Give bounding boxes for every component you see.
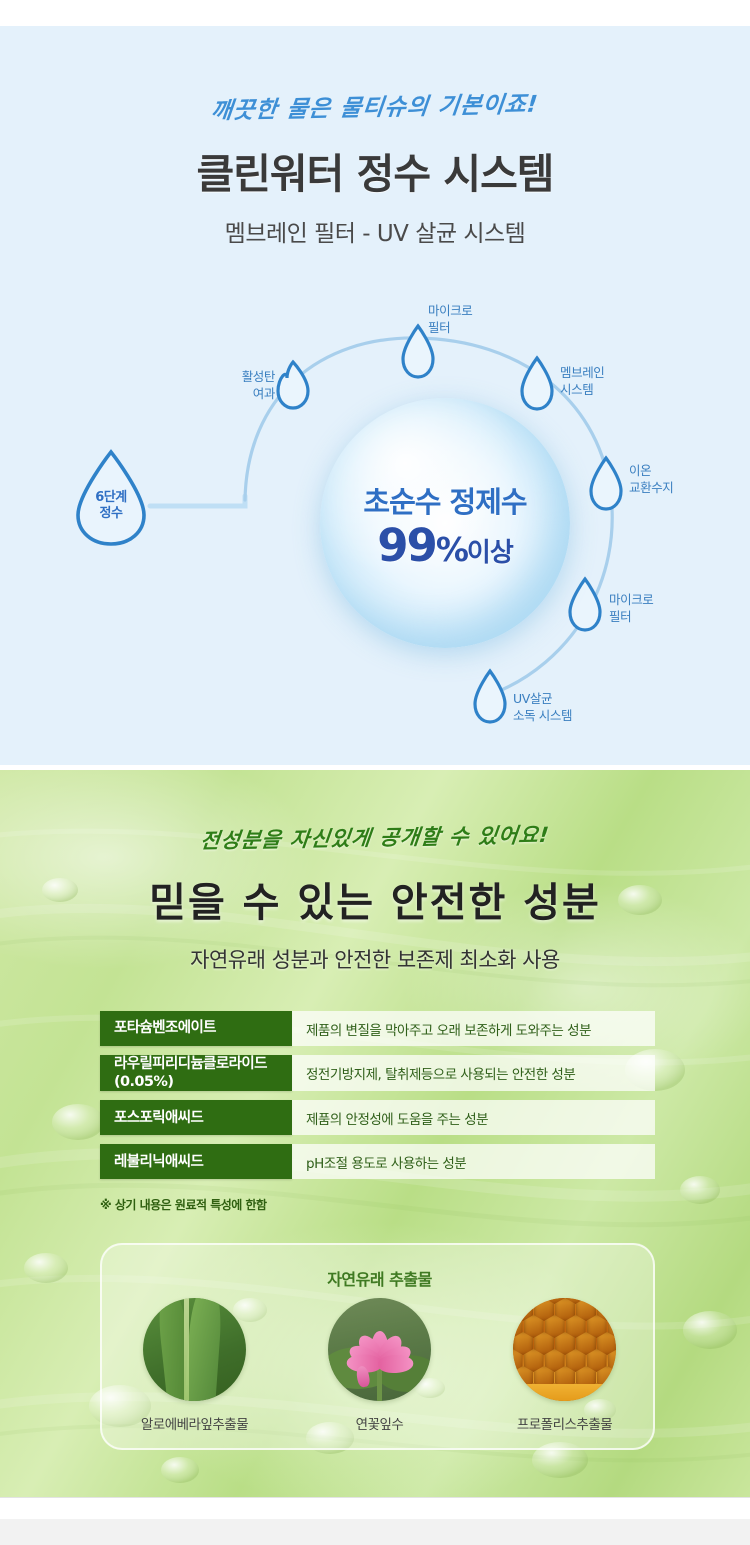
stage-drop: 6단계 정수 (72, 448, 150, 548)
ingredient-section-title: 믿을 수 있는 안전한 성분 (0, 870, 750, 928)
extract-item-lotus-leaf-water: 연꽃잎수 (287, 1298, 472, 1433)
extract-label: 연꽃잎수 (287, 1413, 472, 1433)
honey-pool (513, 1384, 616, 1402)
ingredient-name: 포스포릭애씨드 (100, 1100, 292, 1135)
node-label-micro-filter-top-line1: 마이크로 (428, 303, 472, 320)
stage-drop-line2: 정수 (100, 506, 123, 522)
bottom-gray-strip (0, 1519, 750, 1545)
ingredient-description: 제품의 변질을 막아주고 오래 보존하게 도와주는 성분 (292, 1011, 655, 1046)
node-label-uv-sterilization: UV살균 소독 시스템 (513, 691, 572, 725)
ingredient-description: 정전기방지제, 탈취제등으로 사용되는 안전한 성분 (292, 1055, 655, 1091)
purity-bubble-text: 초순수 정제수 99%이상 (320, 398, 570, 648)
table-row: 라우릴피리디늄클로라이드 (0.05%) 정전기방지제, 탈취제등으로 사용되는… (100, 1055, 655, 1091)
node-label-micro-filter-bottom: 마이크로 필터 (609, 592, 653, 626)
node-label-ion-exchange-resin: 이온 교환수지 (629, 463, 673, 497)
purity-percent-sign: % (436, 530, 467, 569)
node-label-ion-exchange-resin-line2: 교환수지 (629, 480, 673, 497)
extract-item-aloe-vera: 알로에베라잎추출물 (102, 1298, 287, 1433)
stage-drop-label: 6단계 정수 (72, 448, 150, 548)
stage-drop-line1: 6단계 (95, 490, 126, 506)
natural-extracts-title: 자연유래 추출물 (102, 1266, 657, 1290)
purity-value: 99 (377, 519, 436, 572)
extract-item-propolis: 프로폴리스추출물 (472, 1298, 657, 1433)
clean-water-section: 깨끗한 물은 물티슈의 기본이죠! 클린워터 정수 시스템 멤브레인 필터 - … (0, 26, 750, 765)
ingredient-name: 포타슘벤조에이트 (100, 1011, 292, 1046)
node-label-uv-sterilization-line2: 소독 시스템 (513, 708, 572, 725)
node-label-membrane-system-line2: 시스템 (560, 382, 604, 399)
table-row: 포스포릭애씨드 제품의 안정성에 도움을 주는 성분 (100, 1100, 655, 1135)
ingredient-table: 포타슘벤조에이트 제품의 변질을 막아주고 오래 보존하게 도와주는 성분 라우… (100, 1011, 655, 1188)
lotus-flower-image (328, 1298, 431, 1401)
purity-suffix: 이상 (467, 538, 513, 568)
node-label-micro-filter-bottom-line1: 마이크로 (609, 592, 653, 609)
purity-label: 초순수 정제수 (363, 479, 526, 521)
node-label-activated-carbon: 활성탄 여과 (170, 369, 275, 403)
node-label-uv-sterilization-line1: UV살균 (513, 691, 572, 708)
table-row: 포타슘벤조에이트 제품의 변질을 막아주고 오래 보존하게 도와주는 성분 (100, 1011, 655, 1046)
node-label-micro-filter-top: 마이크로 필터 (428, 303, 472, 337)
ingredient-section-subtitle: 자연유래 성분과 안전한 보존제 최소화 사용 (0, 944, 750, 974)
aloe-vera-image (143, 1298, 246, 1401)
natural-extracts-panel: 자연유래 추출물 알로에베라잎추출물 연꽃잎수 (100, 1243, 655, 1450)
ingredient-section-header: 전성분을 자신있게 공개할 수 있어요! 믿을 수 있는 안전한 성분 자연유래… (0, 770, 750, 974)
purification-flow-diagram: 초순수 정제수 99%이상 6단계 정수 활성탄 여과 마이크로 필터 멤브레인… (0, 26, 750, 765)
node-label-ion-exchange-resin-line1: 이온 (629, 463, 673, 480)
table-row: 레불리닉애씨드 pH조절 용도로 사용하는 성분 (100, 1144, 655, 1179)
node-label-micro-filter-top-line2: 필터 (428, 320, 472, 337)
top-white-strip (0, 0, 750, 26)
node-label-activated-carbon-line1: 활성탄 (170, 369, 275, 386)
ingredient-description: pH조절 용도로 사용하는 성분 (292, 1144, 655, 1179)
extract-label: 알로에베라잎추출물 (102, 1413, 287, 1433)
ingredient-name: 라우릴피리디늄클로라이드 (0.05%) (100, 1055, 292, 1091)
node-label-activated-carbon-line2: 여과 (170, 386, 275, 403)
propolis-honeycomb-image (513, 1298, 616, 1401)
node-label-membrane-system: 멤브레인 시스템 (560, 365, 604, 399)
node-label-membrane-system-line1: 멤브레인 (560, 365, 604, 382)
ingredient-script-line: 전성분을 자신있게 공개할 수 있어요! (0, 815, 750, 858)
ingredient-description: 제품의 안정성에 도움을 주는 성분 (292, 1100, 655, 1135)
purity-value-row: 99%이상 (377, 523, 513, 568)
ingredient-name: 레불리닉애씨드 (100, 1144, 292, 1179)
node-label-micro-filter-bottom-line2: 필터 (609, 609, 653, 626)
node-drops-svg (0, 26, 750, 765)
extract-label: 프로폴리스추출물 (472, 1413, 657, 1433)
ingredient-footnote: ※ 상기 내용은 원료적 특성에 한함 (100, 1196, 267, 1213)
